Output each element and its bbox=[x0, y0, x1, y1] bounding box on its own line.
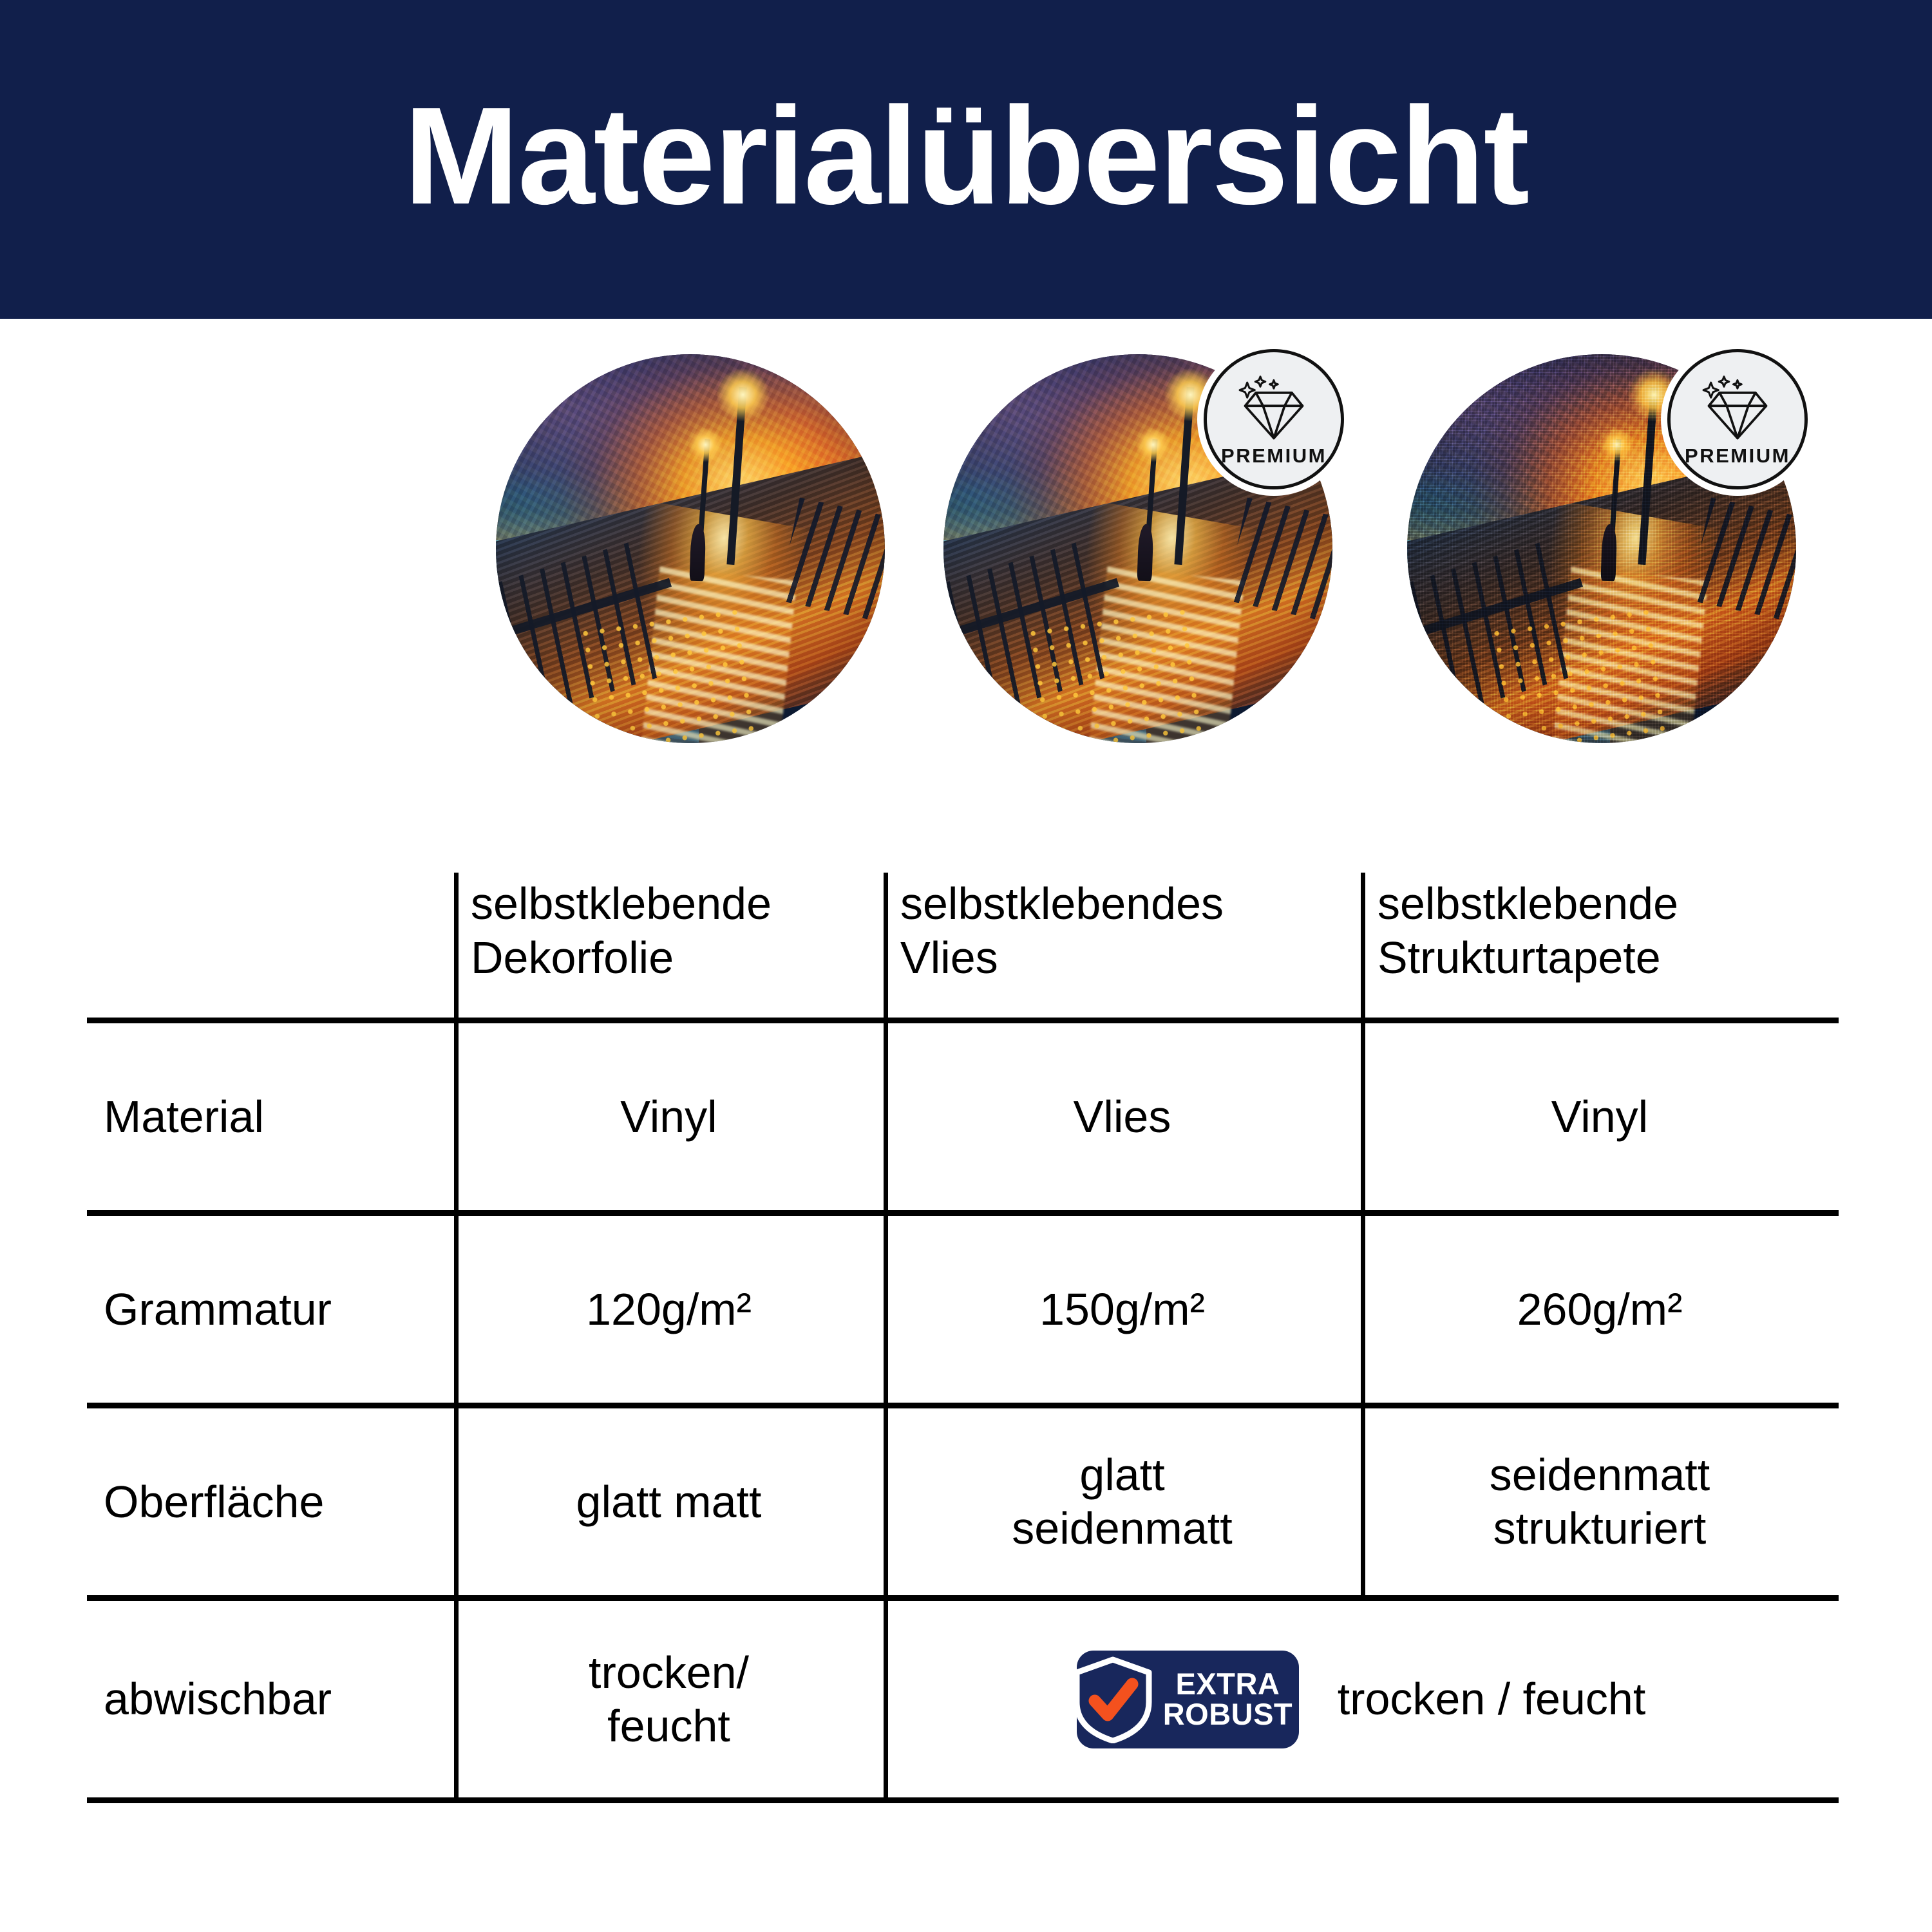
premium-badge-label: PREMIUM bbox=[1221, 444, 1327, 468]
extra-robust-label: EXTRA ROBUST bbox=[1163, 1669, 1293, 1728]
column-header-line1: selbstklebende bbox=[1378, 878, 1678, 929]
diamond-icon bbox=[1238, 375, 1310, 442]
column-divider-1 bbox=[454, 1023, 459, 1210]
column-header-strukturtapete: selbstklebendeStrukturtapete bbox=[1361, 873, 1839, 1018]
material-comparison-table: selbstklebendeDekorfolie selbstklebendes… bbox=[87, 873, 1839, 1803]
material-overview-page: Materialübersicht bbox=[0, 0, 1932, 1932]
premium-badge: PREMIUM bbox=[1667, 349, 1808, 489]
extra-robust-line1: EXTRA bbox=[1163, 1669, 1293, 1699]
table-header-row: selbstklebendeDekorfolie selbstklebendes… bbox=[87, 873, 1839, 1018]
table-bottom-border bbox=[87, 1797, 1839, 1803]
material-preview-strukturtapete[interactable]: PREMIUM bbox=[1407, 354, 1796, 743]
cell-value-line2: strukturiert bbox=[1493, 1503, 1707, 1553]
cell-value-line1: seidenmatt bbox=[1490, 1450, 1710, 1500]
diamond-icon bbox=[1701, 375, 1774, 442]
cell-value: Vinyl bbox=[1361, 1023, 1839, 1210]
row-label: Oberfläche bbox=[87, 1408, 454, 1595]
column-divider-2 bbox=[884, 873, 888, 1018]
cell-value: glattseidenmatt bbox=[884, 1408, 1361, 1595]
column-header-dekorfolie: selbstklebendeDekorfolie bbox=[454, 873, 884, 1018]
row-label: abwischbar bbox=[87, 1601, 454, 1797]
column-divider-2 bbox=[884, 1216, 888, 1403]
row-divider bbox=[87, 1210, 1839, 1216]
shield-check-icon bbox=[1068, 1656, 1158, 1743]
material-preview-strip: PREMIUM bbox=[0, 319, 1932, 770]
column-divider-3 bbox=[1361, 1408, 1365, 1595]
page-header: Materialübersicht bbox=[0, 0, 1932, 319]
cell-value: Vlies bbox=[884, 1023, 1361, 1210]
cell-value: 260g/m² bbox=[1361, 1216, 1839, 1403]
extra-robust-line2: ROBUST bbox=[1163, 1700, 1293, 1729]
extra-robust-badge: EXTRA ROBUST bbox=[1077, 1651, 1299, 1748]
preview-circle-image bbox=[496, 354, 885, 743]
cell-value: Vinyl bbox=[454, 1023, 884, 1210]
material-preview-dekorfolie[interactable] bbox=[496, 354, 885, 743]
table-row-material: Material Vinyl Vlies Vinyl bbox=[87, 1023, 1839, 1210]
material-preview-vlies[interactable]: PREMIUM bbox=[943, 354, 1332, 743]
cell-value-line1: trocken/ bbox=[589, 1647, 749, 1698]
column-divider-2 bbox=[884, 1023, 888, 1210]
column-divider-1 bbox=[454, 1216, 459, 1403]
row-divider bbox=[87, 1018, 1839, 1023]
cell-value: 120g/m² bbox=[454, 1216, 884, 1403]
column-divider-1 bbox=[454, 1408, 459, 1595]
column-divider-1 bbox=[454, 1601, 459, 1797]
cell-value: 150g/m² bbox=[884, 1216, 1361, 1403]
premium-badge-label: PREMIUM bbox=[1685, 444, 1790, 468]
cell-value-line2: seidenmatt bbox=[1012, 1503, 1232, 1553]
column-divider-3 bbox=[1361, 1216, 1365, 1403]
cell-value-merged: EXTRA ROBUST trocken / feucht bbox=[884, 1601, 1839, 1797]
cell-value: trocken/ feucht bbox=[454, 1601, 884, 1797]
page-title: Materialübersicht bbox=[404, 86, 1528, 225]
row-label: Grammatur bbox=[87, 1216, 454, 1403]
column-divider-3 bbox=[1361, 873, 1365, 1018]
column-divider-3 bbox=[1361, 1023, 1365, 1210]
cell-value-line1: glatt bbox=[1079, 1450, 1164, 1500]
column-header-line1: selbstklebendes bbox=[900, 878, 1224, 929]
cell-value-line2: feucht bbox=[607, 1701, 730, 1751]
cell-value: seidenmattstrukturiert bbox=[1361, 1408, 1839, 1595]
column-divider-2 bbox=[884, 1601, 888, 1797]
cell-value: glatt matt bbox=[454, 1408, 884, 1595]
artwork-pier-sunset bbox=[496, 354, 885, 743]
row-divider bbox=[87, 1595, 1839, 1601]
column-header-vlies: selbstklebendesVlies bbox=[884, 873, 1361, 1018]
column-header-line2: Vlies bbox=[900, 933, 998, 983]
column-divider-1 bbox=[454, 873, 459, 1018]
column-header-line2: Strukturtapete bbox=[1378, 933, 1661, 983]
table-row-oberflaeche: Oberfläche glatt matt glattseidenmatt se… bbox=[87, 1408, 1839, 1595]
premium-badge: PREMIUM bbox=[1204, 349, 1344, 489]
table-corner-cell bbox=[87, 873, 454, 1018]
table-row-grammatur: Grammatur 120g/m² 150g/m² 260g/m² bbox=[87, 1216, 1839, 1403]
column-header-line2: Dekorfolie bbox=[471, 933, 674, 983]
cell-value-text: trocken / feucht bbox=[1338, 1672, 1646, 1726]
column-header-line1: selbstklebende bbox=[471, 878, 772, 929]
table-row-abwischbar: abwischbar trocken/ feucht EXTRA bbox=[87, 1601, 1839, 1797]
column-divider-2 bbox=[884, 1408, 888, 1595]
row-label: Material bbox=[87, 1023, 454, 1210]
row-divider bbox=[87, 1403, 1839, 1408]
